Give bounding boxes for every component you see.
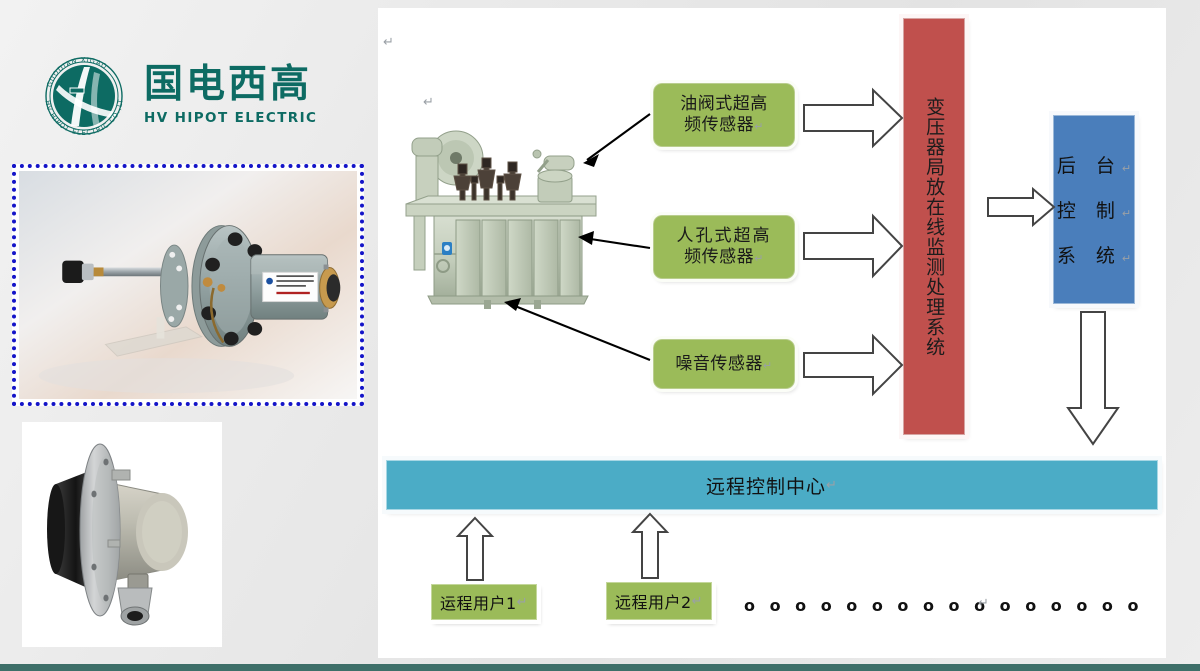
pd-processing-system-label: 变压器局放在线监测处理系统 — [921, 97, 947, 357]
pilcrow-mark: ↵ — [423, 96, 434, 109]
pilcrow-mark: ↵ — [517, 596, 528, 609]
transformer-illustration — [398, 116, 606, 312]
block-arrow-oil-valve-to-processor — [804, 90, 902, 146]
sensor-label-line2: 频传感器 — [684, 115, 754, 135]
backend-row-label: 系 统 — [1057, 245, 1122, 267]
pilcrow-mark: ↵ — [978, 597, 989, 610]
manhole-uhf-sensor-photo — [22, 422, 222, 647]
block-arrow-noise-to-processor — [804, 336, 902, 394]
pilcrow-mark: ↵ — [754, 252, 764, 265]
backend-row-label: 控 制 — [1057, 200, 1122, 222]
remote-user-1-label: 运程用户1 — [440, 590, 517, 614]
brand-logo: HV HIPOT ELECTRIC CO.,LTD GUODIAN XIGAO … — [38, 48, 348, 143]
oil-valve-uhf-sensor-photo — [12, 164, 364, 406]
remote-user-2-box[interactable]: 远程用户2↵ — [606, 582, 712, 620]
power-transformer-photo — [398, 116, 606, 312]
pilcrow-mark: ↵ — [1122, 162, 1131, 175]
brand-wordmark: 国电西高 HV HIPOT ELECTRIC — [144, 65, 317, 126]
pilcrow-mark: ↵ — [826, 479, 838, 492]
backend-control-system-box[interactable]: 后 台↵ 控 制↵ 系 统↵ — [1053, 115, 1135, 304]
pilcrow-mark: ↵ — [692, 595, 703, 608]
brand-name-cn: 国电西高 — [144, 65, 317, 106]
pilcrow-mark: ↵ — [383, 36, 394, 49]
emblem-svg: HV HIPOT ELECTRIC CO.,LTD GUODIAN XIGAO — [38, 50, 130, 142]
remote-control-center-bar[interactable]: 远程控制中心↵ — [386, 460, 1158, 510]
block-arrow-backend-to-center — [1068, 312, 1118, 444]
backend-row-label: 后 台 — [1057, 155, 1122, 177]
block-arrow-user1-to-center — [458, 518, 492, 580]
pilcrow-mark: ↵ — [754, 120, 764, 133]
remote-user-2-label: 远程用户2 — [615, 589, 692, 613]
remote-user-ellipsis: o o o o o o o o o o o o o o o o — [744, 596, 1143, 615]
pilcrow-mark: ↵ — [1122, 207, 1131, 220]
block-arrow-processor-to-backend — [988, 189, 1054, 225]
sensor-label-line1: 噪音传感器 — [675, 354, 763, 374]
block-arrow-user2-to-center — [633, 514, 667, 578]
sensor-label-line2: 频传感器 — [684, 247, 754, 267]
brand-name-en: HV HIPOT ELECTRIC — [144, 110, 317, 126]
manhole-sensor-illustration — [22, 422, 222, 647]
sensor-box-noise[interactable]: 噪音传感器↵ — [653, 339, 795, 389]
diagram-panel: ↵ ↵ — [378, 8, 1166, 658]
remote-control-center-label: 远程控制中心 — [706, 472, 826, 499]
oil-valve-sensor-illustration — [19, 171, 357, 399]
slide-canvas: HV HIPOT ELECTRIC CO.,LTD GUODIAN XIGAO … — [0, 0, 1200, 671]
sensor-label-line1: 人孔式超高 — [677, 226, 772, 247]
sensor-label-line1: 油阀式超高 — [680, 94, 768, 115]
pd-processing-system-box[interactable]: 变压器局放在线监测处理系统 — [903, 18, 965, 435]
block-arrow-manhole-to-processor — [804, 216, 902, 276]
hv-hipot-circular-emblem-icon: HV HIPOT ELECTRIC CO.,LTD GUODIAN XIGAO — [38, 50, 130, 142]
pilcrow-mark: ↵ — [763, 359, 773, 372]
sensor-box-oil-valve[interactable]: 油阀式超高 频传感器↵ — [653, 83, 795, 147]
bottom-accent-rule — [0, 664, 1200, 671]
sensor-box-manhole[interactable]: 人孔式超高 频传感器↵ — [653, 215, 795, 279]
remote-user-1-box[interactable]: 运程用户1↵ — [431, 584, 537, 620]
pilcrow-mark: ↵ — [1122, 252, 1131, 265]
